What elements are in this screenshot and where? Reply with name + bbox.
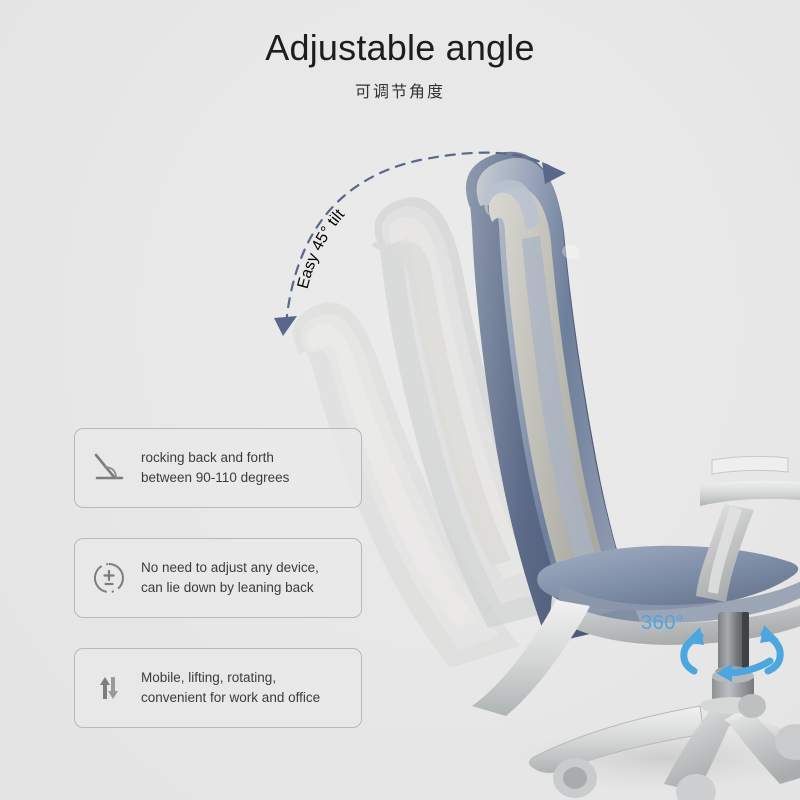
feature-card-text: Mobile, lifting, rotating, convenient fo…: [141, 668, 320, 707]
feature-line-1: No need to adjust any device,: [141, 558, 319, 578]
feature-line-1: rocking back and forth: [141, 448, 289, 468]
up-down-arrows-icon: [87, 666, 131, 710]
recline-angle-icon: [87, 446, 131, 490]
rotation-label: 360°: [641, 612, 684, 635]
page-title: Adjustable angle: [0, 28, 800, 68]
feature-line-2: can lie down by leaning back: [141, 578, 319, 598]
product-infographic: Adjustable angle 可调节角度: [0, 0, 800, 800]
feature-card-mobile[interactable]: Mobile, lifting, rotating, convenient fo…: [74, 648, 362, 728]
feature-card-text: rocking back and forth between 90-110 de…: [141, 448, 289, 487]
feature-line-2: between 90-110 degrees: [141, 468, 289, 488]
feature-card-text: No need to adjust any device, can lie do…: [141, 558, 319, 597]
plus-minus-circle-icon: [87, 556, 131, 600]
feature-line-1: Mobile, lifting, rotating,: [141, 668, 320, 688]
feature-card-rocking[interactable]: rocking back and forth between 90-110 de…: [74, 428, 362, 508]
page-subtitle: 可调节角度: [0, 78, 800, 102]
feature-card-list: rocking back and forth between 90-110 de…: [74, 428, 362, 728]
feature-line-2: convenient for work and office: [141, 688, 320, 708]
header: Adjustable angle 可调节角度: [0, 28, 800, 102]
feature-card-no-device[interactable]: No need to adjust any device, can lie do…: [74, 538, 362, 618]
